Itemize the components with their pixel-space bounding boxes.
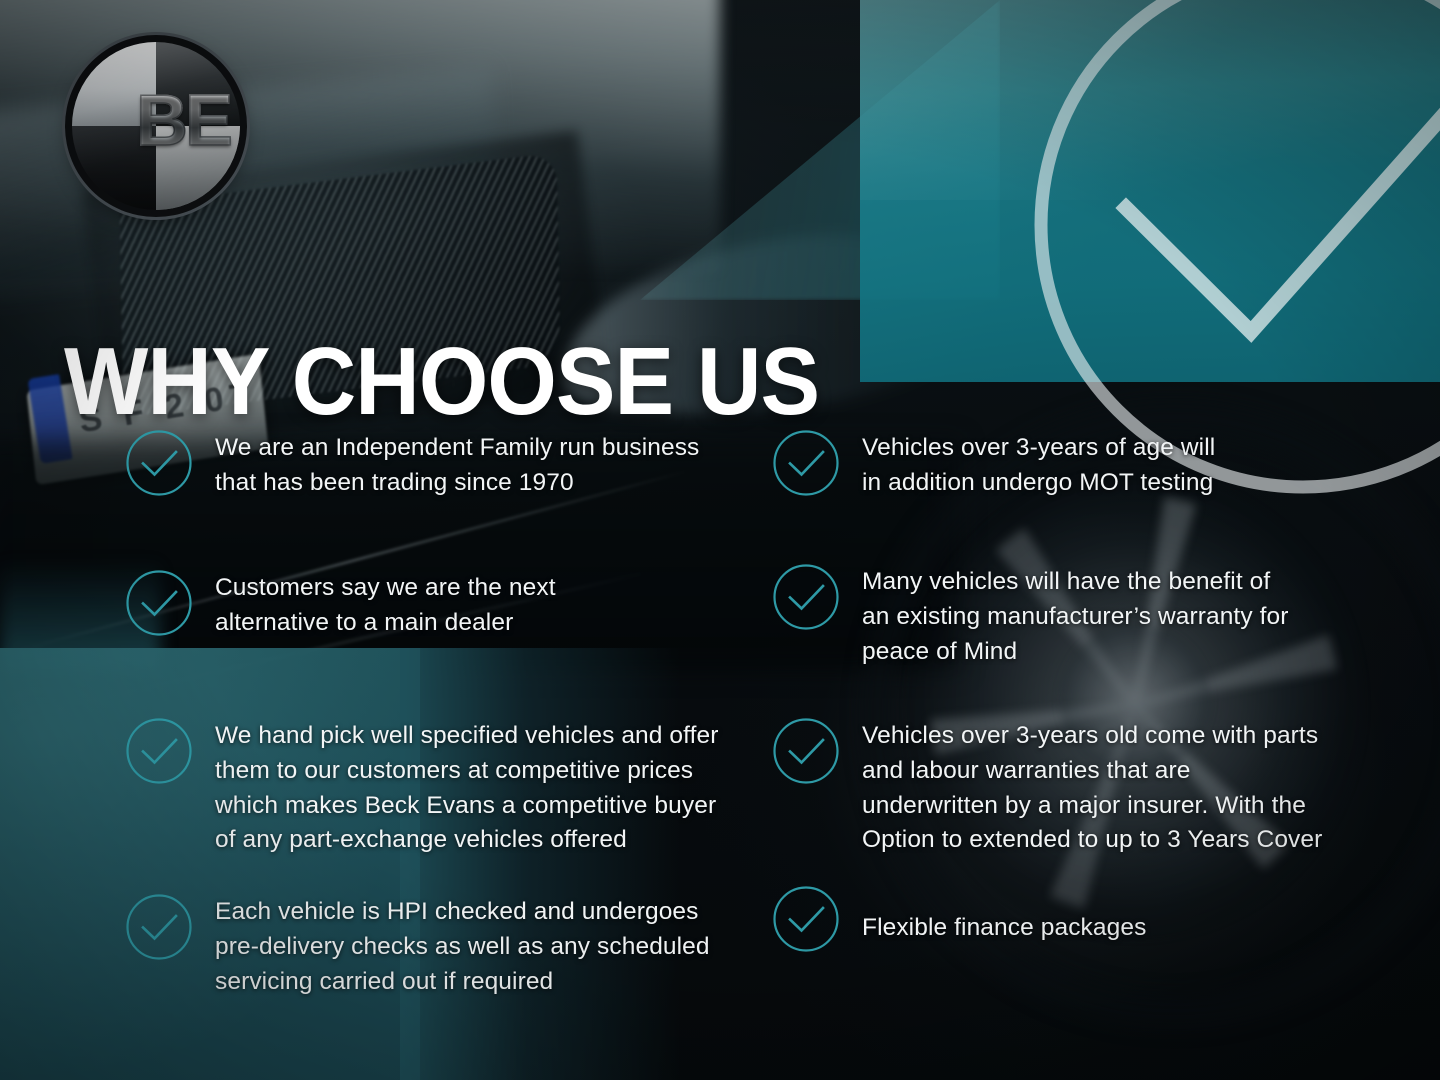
check-circle-icon [125,893,193,961]
benefit-line: underwritten by a major insurer. With th… [862,789,1322,824]
benefit-text: Customers say we are the nextalternative… [215,569,556,641]
check-circle-icon [772,717,840,785]
benefit-line: Flexible finance packages [862,911,1146,946]
benefit-line: We are an Independent Family run busines… [215,431,699,466]
check-circle-icon [772,429,840,497]
benefit-text: Vehicles over 3-years old come with part… [862,717,1322,858]
benefit-item: Flexible finance packages [772,885,1146,953]
check-circle-icon [125,717,193,785]
benefit-item: Many vehicles will have the benefit ofan… [772,563,1289,669]
benefit-line: Vehicles over 3-years of age will [862,431,1215,466]
benefit-line: and labour warranties that are [862,754,1322,789]
check-circle-icon [772,563,840,631]
benefit-text: Vehicles over 3-years of age willin addi… [862,429,1215,501]
benefit-text: Each vehicle is HPI checked and undergoe… [215,893,710,999]
benefit-item: Vehicles over 3-years of age willin addi… [772,429,1215,501]
benefit-line: We hand pick well specified vehicles and… [215,719,719,754]
benefit-line: pre-delivery checks as well as any sched… [215,930,710,965]
benefit-line: of any part-exchange vehicles offered [215,823,719,858]
benefit-item: We hand pick well specified vehicles and… [125,717,719,858]
benefit-line: which makes Beck Evans a competitive buy… [215,789,719,824]
check-circle-icon [125,429,193,497]
benefit-line: servicing carried out if required [215,965,710,1000]
benefit-text: We hand pick well specified vehicles and… [215,717,719,858]
benefit-line: that has been trading since 1970 [215,466,699,501]
slide-why-choose-us: S F 2 07 BE WHY CHOOSE US We are an Inde… [0,0,1440,1080]
benefit-text: Flexible finance packages [862,885,1146,946]
benefit-line: alternative to a main dealer [215,606,556,641]
benefit-item: Vehicles over 3-years old come with part… [772,717,1322,858]
benefit-line: Vehicles over 3-years old come with part… [862,719,1322,754]
benefit-line: Each vehicle is HPI checked and undergoe… [215,895,710,930]
benefit-line: them to our customers at competitive pri… [215,754,719,789]
check-circle-icon [125,569,193,637]
benefit-line: Option to extended to up to 3 Years Cove… [862,823,1322,858]
benefit-line: Customers say we are the next [215,571,556,606]
benefit-text: We are an Independent Family run busines… [215,429,699,501]
benefit-item: We are an Independent Family run busines… [125,429,699,501]
benefit-line: Many vehicles will have the benefit of [862,565,1289,600]
benefit-line: peace of Mind [862,635,1289,670]
benefit-line: in addition undergo MOT testing [862,466,1215,501]
benefit-item: Customers say we are the nextalternative… [125,569,556,641]
benefits-container: We are an Independent Family run busines… [0,0,1440,1080]
benefit-line: an existing manufacturer’s warranty for [862,600,1289,635]
benefit-item: Each vehicle is HPI checked and undergoe… [125,893,710,999]
benefit-text: Many vehicles will have the benefit ofan… [862,563,1289,669]
check-circle-icon [772,885,840,953]
